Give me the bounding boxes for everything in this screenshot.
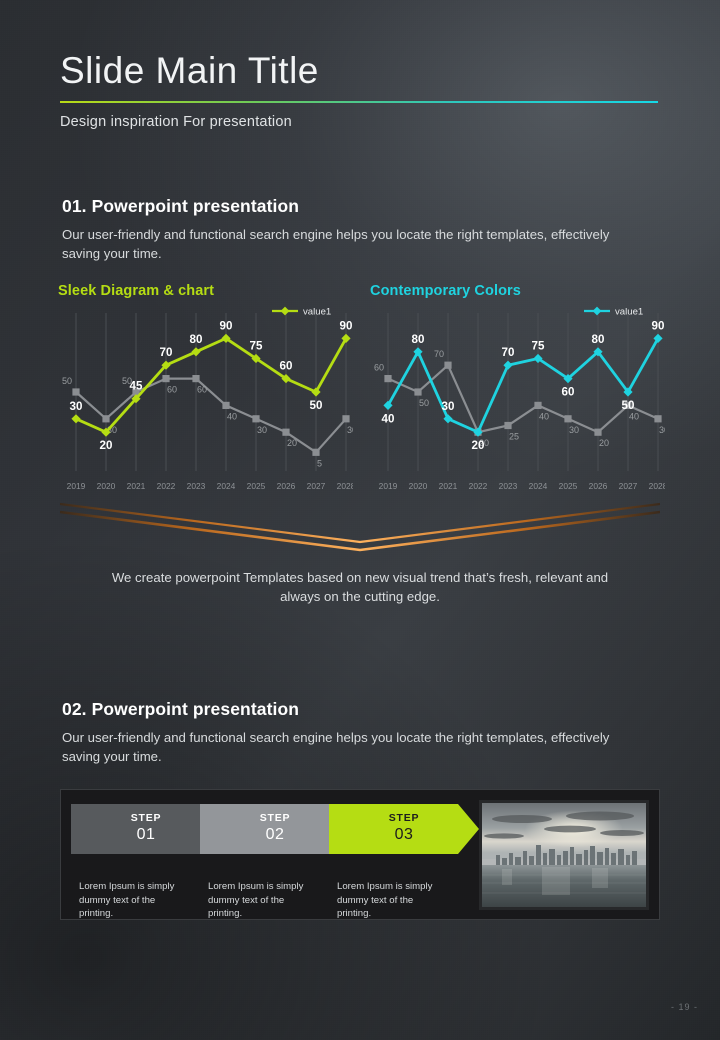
- accent-series-point-label: 80: [592, 333, 605, 346]
- gray-series-point-label: 50: [419, 398, 429, 408]
- slide-header: Slide Main Title Design inspiration For …: [60, 52, 660, 130]
- x-axis-tick-label: 2019: [379, 481, 398, 491]
- x-axis-tick-label: 2027: [307, 481, 326, 491]
- section-two: 02. Powerpoint presentation Our user-fri…: [62, 699, 662, 766]
- step-02-description: Lorem Ipsum is simply dummy text of the …: [208, 880, 318, 921]
- accent-series-point-label: 60: [280, 360, 293, 373]
- gray-series-point-label: 60: [374, 363, 384, 373]
- step-03-description: Lorem Ipsum is simply dummy text of the …: [337, 880, 447, 921]
- slide-canvas: Slide Main Title Design inspiration For …: [0, 0, 720, 1040]
- accent-series-point-label: 70: [502, 346, 515, 359]
- chart-contemporary-colors: Contemporary Colors 60507020254030204030…: [370, 283, 665, 505]
- step-02-number: 02: [266, 825, 285, 845]
- accent-series-point-label: 30: [442, 400, 455, 413]
- x-axis-tick-label: 2022: [469, 481, 488, 491]
- accent-series-point-label: 75: [532, 340, 545, 353]
- accent-series-point-label: 90: [652, 319, 665, 332]
- gray-series-point-label: 5: [317, 458, 322, 468]
- gray-series-point-label: 30: [659, 425, 665, 435]
- x-axis-tick-label: 2021: [439, 481, 458, 491]
- x-axis-tick-label: 2027: [619, 481, 638, 491]
- step-02-word: STEP: [260, 813, 291, 825]
- page-subtitle: Design inspiration For presentation: [60, 114, 660, 130]
- x-axis-tick-label: 2019: [67, 481, 86, 491]
- x-axis-tick-label: 2026: [277, 481, 296, 491]
- x-axis-tick-label: 2020: [409, 481, 428, 491]
- chart-right-title: Contemporary Colors: [370, 283, 665, 299]
- charts-row: Sleek Diagram & chart 503050606040302053…: [58, 283, 666, 505]
- gray-series-point-label: 20: [287, 438, 297, 448]
- x-axis-tick-label: 2021: [127, 481, 146, 491]
- accent-series-point-label: 40: [382, 412, 395, 425]
- step-03-word: STEP: [389, 813, 420, 825]
- gray-series-point-label: 60: [167, 385, 177, 395]
- x-axis-tick-label: 2024: [217, 481, 236, 491]
- step-01-description: Lorem Ipsum is simply dummy text of the …: [79, 880, 189, 921]
- x-axis-tick-label: 2023: [187, 481, 206, 491]
- steps-panel: STEP 01 STEP 02 STEP 03 Lorem Ipsum is s…: [60, 789, 660, 920]
- accent-series-point-label: 90: [220, 319, 233, 332]
- gray-series-point-label: 70: [434, 349, 444, 359]
- accent-series-point-label: 45: [130, 380, 143, 393]
- step-03-number: 03: [395, 825, 414, 845]
- chart-right-plot: 60507020254030204030 4080302070756080509…: [370, 301, 665, 505]
- x-axis-tick-label: 2022: [157, 481, 176, 491]
- accent-series-point-label: 90: [340, 319, 353, 332]
- page-number: - 19 -: [671, 1002, 698, 1012]
- gray-series-point-label: 40: [629, 411, 639, 421]
- x-axis-tick-label: 2028: [649, 481, 665, 491]
- gray-series-point-label: 60: [197, 385, 207, 395]
- step-chevron-02[interactable]: STEP 02: [200, 804, 350, 854]
- x-axis-tick-label: 2020: [97, 481, 116, 491]
- charts-caption: We create powerpoint Templates based on …: [110, 568, 610, 606]
- accent-series-point-label: 20: [472, 439, 485, 452]
- section-two-body: Our user-friendly and functional search …: [62, 729, 622, 766]
- gray-series-point-label: 50: [62, 376, 72, 386]
- chevron-divider-icon: [60, 502, 660, 560]
- gray-series-point-label: 25: [509, 432, 519, 442]
- chart-right-legend-label: value1: [615, 307, 643, 318]
- x-axis-tick-label: 2023: [499, 481, 518, 491]
- section-one-heading: 01. Powerpoint presentation: [62, 196, 662, 217]
- x-axis-tick-label: 2026: [589, 481, 608, 491]
- step-chevron-03[interactable]: STEP 03: [329, 804, 479, 854]
- accent-series-point-label: 30: [70, 400, 83, 413]
- x-axis-tick-label: 2024: [529, 481, 548, 491]
- step-chevron-01[interactable]: STEP 01: [71, 804, 221, 854]
- gray-series-point-label: 20: [599, 438, 609, 448]
- accent-series-point-label: 50: [622, 399, 635, 412]
- x-axis-tick-label: 2025: [247, 481, 266, 491]
- title-underline-rule: [60, 101, 658, 103]
- accent-series-point-label: 60: [562, 386, 575, 399]
- accent-series-point-label: 75: [250, 340, 263, 353]
- chart-left-plot: 5030506060403020530 30204570809075605090…: [58, 301, 353, 505]
- accent-series-point-label: 20: [100, 439, 113, 452]
- chart-sleek-diagram: Sleek Diagram & chart 503050606040302053…: [58, 283, 353, 505]
- gray-series-point-label: 40: [227, 411, 237, 421]
- page-title: Slide Main Title: [60, 52, 660, 91]
- x-axis-tick-label: 2025: [559, 481, 578, 491]
- section-one-body: Our user-friendly and functional search …: [62, 226, 622, 263]
- step-01-word: STEP: [131, 813, 162, 825]
- accent-series-point-label: 80: [190, 333, 203, 346]
- step-chevrons: STEP 01 STEP 02 STEP 03 Lorem Ipsum is s…: [71, 804, 461, 854]
- section-one: 01. Powerpoint presentation Our user-fri…: [62, 196, 662, 263]
- step-01-number: 01: [137, 825, 156, 845]
- chart-left-title: Sleek Diagram & chart: [58, 283, 353, 299]
- section-two-heading: 02. Powerpoint presentation: [62, 699, 662, 720]
- gray-series-point-label: 30: [569, 425, 579, 435]
- accent-series-point-label: 70: [160, 346, 173, 359]
- chart-left-legend-label: value1: [303, 307, 331, 318]
- accent-series-point-label: 80: [412, 333, 425, 346]
- gray-series-point-label: 30: [347, 425, 353, 435]
- gray-series-point-label: 40: [539, 411, 549, 421]
- gray-series-point-label: 30: [257, 425, 267, 435]
- city-skyline-photo: [479, 800, 649, 910]
- x-axis-tick-label: 2028: [337, 481, 353, 491]
- accent-series-point-label: 50: [310, 399, 323, 412]
